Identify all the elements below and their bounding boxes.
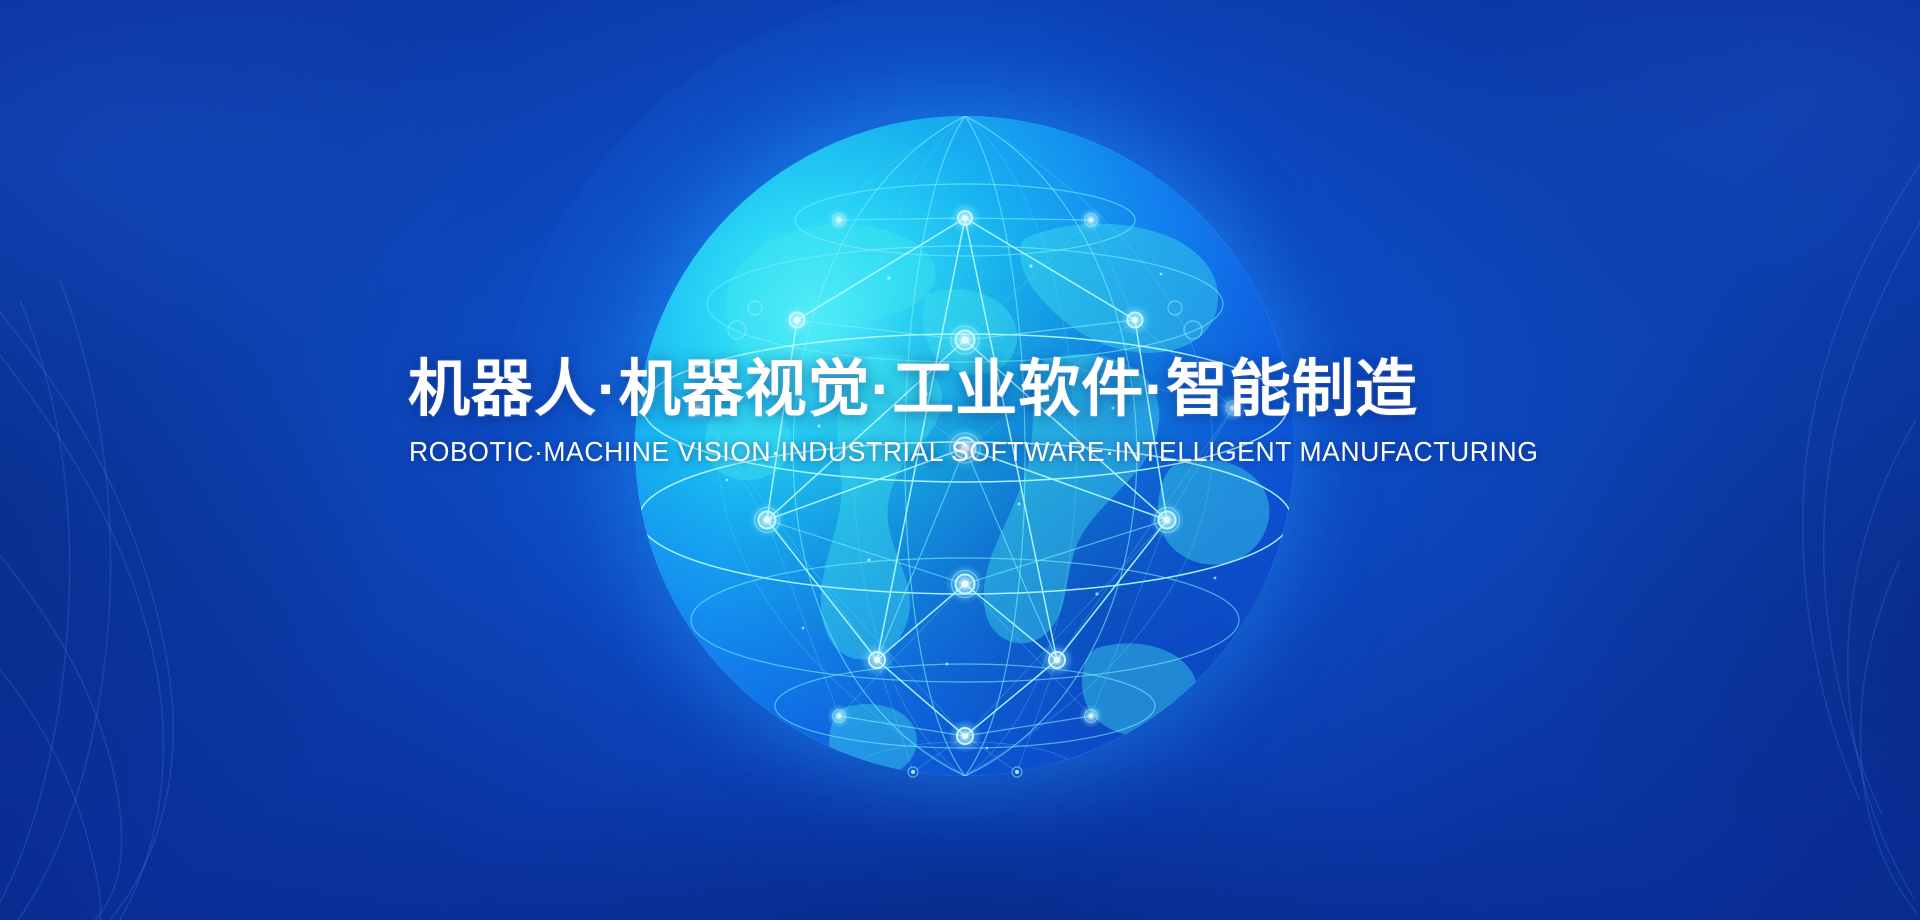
banner-headline: 机器人·机器视觉·工业软件·智能制造 (408, 355, 1528, 424)
node (781, 304, 813, 336)
node (860, 643, 894, 677)
node (1149, 502, 1185, 538)
right-ribbon-curves (1600, 0, 1920, 920)
node (1119, 304, 1151, 336)
node (945, 320, 985, 360)
node (827, 208, 851, 232)
left-ribbon-curves (0, 0, 300, 920)
node (1079, 208, 1103, 232)
hero-banner: 机器人·机器视觉·工业软件·智能制造 ROBOTIC·MACHINE VISIO… (0, 0, 1920, 920)
node (949, 202, 981, 234)
banner-text-block: 机器人·机器视觉·工业软件·智能制造 ROBOTIC·MACHINE VISIO… (408, 355, 1528, 468)
node (827, 704, 851, 728)
node (945, 564, 985, 604)
banner-subheadline: ROBOTIC·MACHINE VISION·INDUSTRIAL SOFTWA… (409, 436, 1489, 468)
node (749, 502, 785, 538)
node (1040, 643, 1074, 677)
node (1079, 704, 1103, 728)
node (948, 719, 982, 753)
